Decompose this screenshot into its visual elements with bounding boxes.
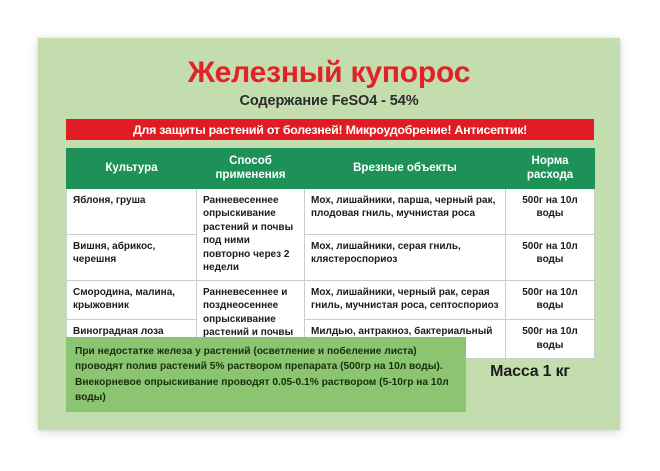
cell-pests: Мох, лишайники, парша, черный рак, плодо…	[305, 188, 506, 234]
cell-rate: 500г на 10л воды	[506, 234, 595, 280]
cell-pests: Мох, лишайники, серая гниль, клястероспо…	[305, 234, 506, 280]
promo-banner: Для защиты растений от болезней! Микроуд…	[66, 119, 594, 140]
usage-table: Культура Способ применения Врезные объек…	[66, 148, 595, 359]
table-header: Культура Способ применения Врезные объек…	[67, 149, 595, 189]
cell-rate: 500г на 10л воды	[506, 188, 595, 234]
page-title: Железный купорос	[38, 38, 620, 89]
product-label-card: Железный купорос Содержание FeSO4 - 54% …	[38, 38, 620, 430]
column-header-method: Способ применения	[197, 149, 305, 189]
cell-crop: Смородина, малина, крыжовник	[67, 280, 197, 319]
mass-label: Масса 1 кг	[466, 337, 594, 381]
cell-crop: Вишня, абрикос, черешня	[67, 234, 197, 280]
footer-area: При недостатке железа у растений (осветл…	[66, 337, 594, 413]
table-row: Вишня, абрикос, черешня Мох, лишайники, …	[67, 234, 595, 280]
table-body: Яблоня, груша Ранневесеннее опрыскивание…	[67, 188, 595, 359]
table-header-row: Культура Способ применения Врезные объек…	[67, 149, 595, 189]
column-header-pests: Врезные объекты	[305, 149, 506, 189]
column-header-rate: Норма расхода	[506, 149, 595, 189]
cell-rate: 500г на 10л воды	[506, 280, 595, 319]
cell-crop: Яблоня, груша	[67, 188, 197, 234]
title-block: Железный купорос Содержание FeSO4 - 54%	[38, 38, 620, 109]
table-row: Смородина, малина, крыжовник Ранневесенн…	[67, 280, 595, 319]
table-row: Яблоня, груша Ранневесеннее опрыскивание…	[67, 188, 595, 234]
column-header-crop: Культура	[67, 149, 197, 189]
cell-method: Ранневесеннее опрыскивание растений и по…	[197, 188, 305, 280]
deficiency-note: При недостатке железа у растений (осветл…	[66, 337, 466, 412]
product-subtitle: Содержание FeSO4 - 54%	[38, 89, 620, 109]
cell-pests: Мох, лишайники, черный рак, серая гниль,…	[305, 280, 506, 319]
